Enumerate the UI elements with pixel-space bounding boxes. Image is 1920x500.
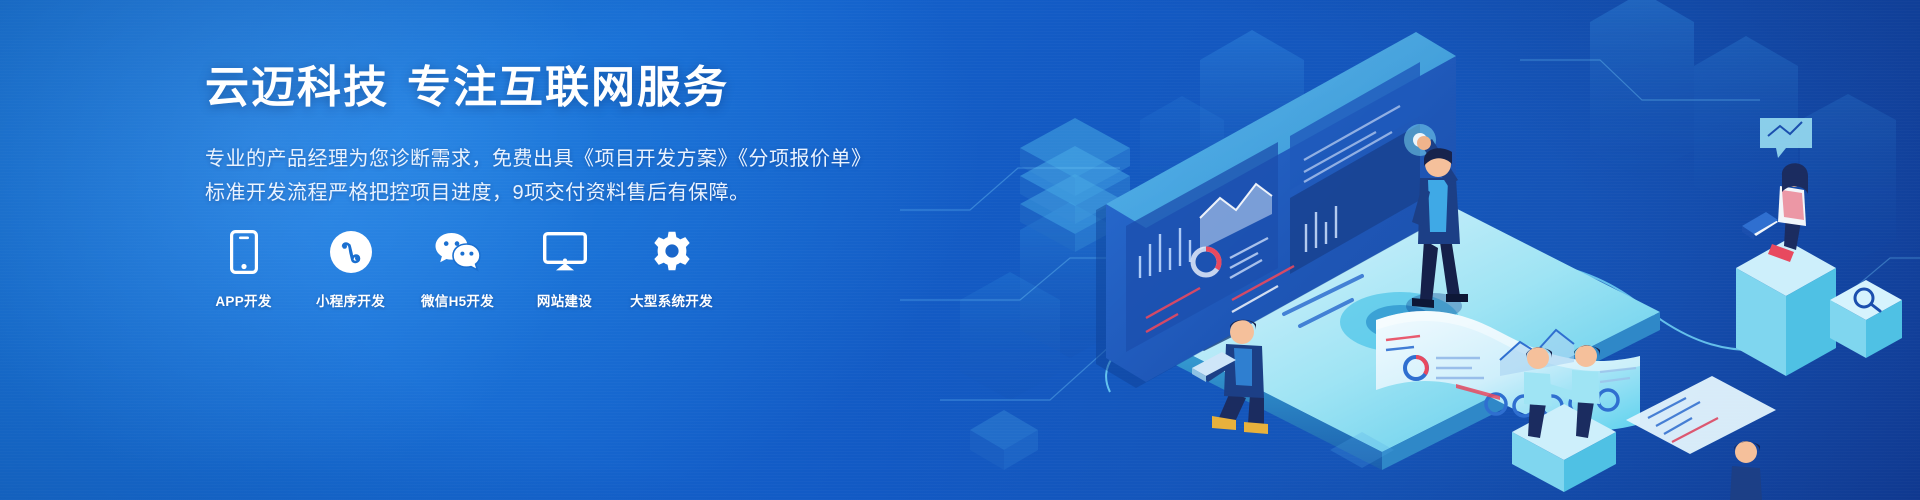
wechat-icon bbox=[434, 230, 482, 274]
mini-program-icon bbox=[330, 230, 372, 274]
subtitle-line-1: 专业的产品经理为您诊断需求，免费出具《项目开发方案》《分项报价单》 bbox=[205, 142, 925, 176]
service-item-website[interactable]: 网站建设 bbox=[527, 230, 602, 310]
service-label: 网站建设 bbox=[537, 290, 592, 310]
mobile-phone-icon bbox=[230, 230, 258, 274]
code-panel bbox=[1626, 376, 1776, 454]
service-list: APP开发 小程序开发 bbox=[206, 230, 709, 310]
page-title: 云迈科技专注互联网服务 bbox=[205, 62, 925, 115]
service-label: APP开发 bbox=[215, 290, 271, 310]
service-item-system[interactable]: 大型系统开发 bbox=[634, 230, 709, 310]
service-label: 微信H5开发 bbox=[421, 290, 494, 310]
service-item-wechat[interactable]: 微信H5开发 bbox=[420, 230, 495, 310]
service-item-app[interactable]: APP开发 bbox=[206, 230, 281, 310]
service-item-miniprogram[interactable]: 小程序开发 bbox=[313, 230, 388, 310]
headline-brand: 云迈科技 bbox=[205, 63, 389, 112]
isometric-illustration bbox=[900, 0, 1920, 500]
person-bottom-right bbox=[1730, 441, 1762, 500]
banner-subtitle: 专业的产品经理为您诊断需求，免费出具《项目开发方案》《分项报价单》 标准开发流程… bbox=[205, 142, 925, 211]
service-label: 大型系统开发 bbox=[630, 290, 713, 310]
gear-icon bbox=[651, 230, 693, 274]
promo-banner: 云迈科技专注互联网服务 专业的产品经理为您诊断需求，免费出具《项目开发方案》《分… bbox=[0, 0, 1920, 500]
headline-tagline: 专注互联网服务 bbox=[407, 63, 729, 112]
subtitle-line-2: 标准开发流程严格把控项目进度，9项交付资料售后有保障。 bbox=[205, 176, 925, 210]
monitor-icon bbox=[543, 230, 587, 274]
banner-copy: 云迈科技专注互联网服务 专业的产品经理为您诊断需求，免费出具《项目开发方案》《分… bbox=[205, 62, 925, 211]
service-label: 小程序开发 bbox=[316, 290, 385, 310]
search-cube bbox=[1830, 280, 1902, 358]
